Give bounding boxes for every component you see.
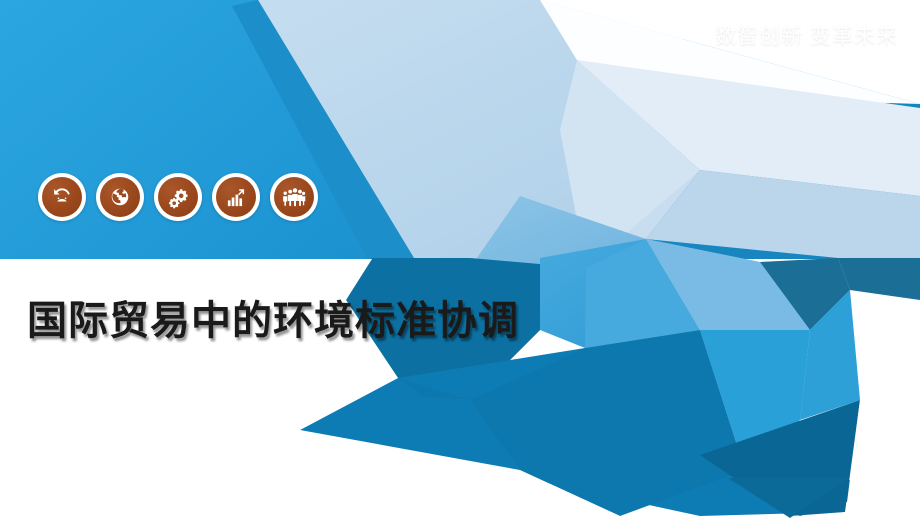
icon-badge-people[interactable] — [270, 173, 318, 221]
icon-badge-row — [38, 173, 318, 221]
icon-badge-globe[interactable] — [96, 173, 144, 221]
page-title: 国际贸易中的环境标准协调 — [27, 298, 519, 344]
people-group-icon — [274, 177, 314, 217]
gears-icon — [158, 177, 198, 217]
globe-icon — [100, 177, 140, 217]
bar-chart-growth-icon — [216, 177, 256, 217]
poly-white-floor-left — [0, 430, 300, 518]
presentation-title-slide: 数智创新 变革未来 — [0, 0, 920, 518]
icon-badge-bar-chart[interactable] — [212, 173, 260, 221]
background-low-poly-artwork — [0, 0, 920, 518]
icon-badge-gears[interactable] — [154, 173, 202, 221]
recycle-arrow-icon — [42, 177, 82, 217]
slide-tagline: 数智创新 变革未来 — [715, 26, 898, 47]
icon-badge-recycle[interactable] — [38, 173, 86, 221]
